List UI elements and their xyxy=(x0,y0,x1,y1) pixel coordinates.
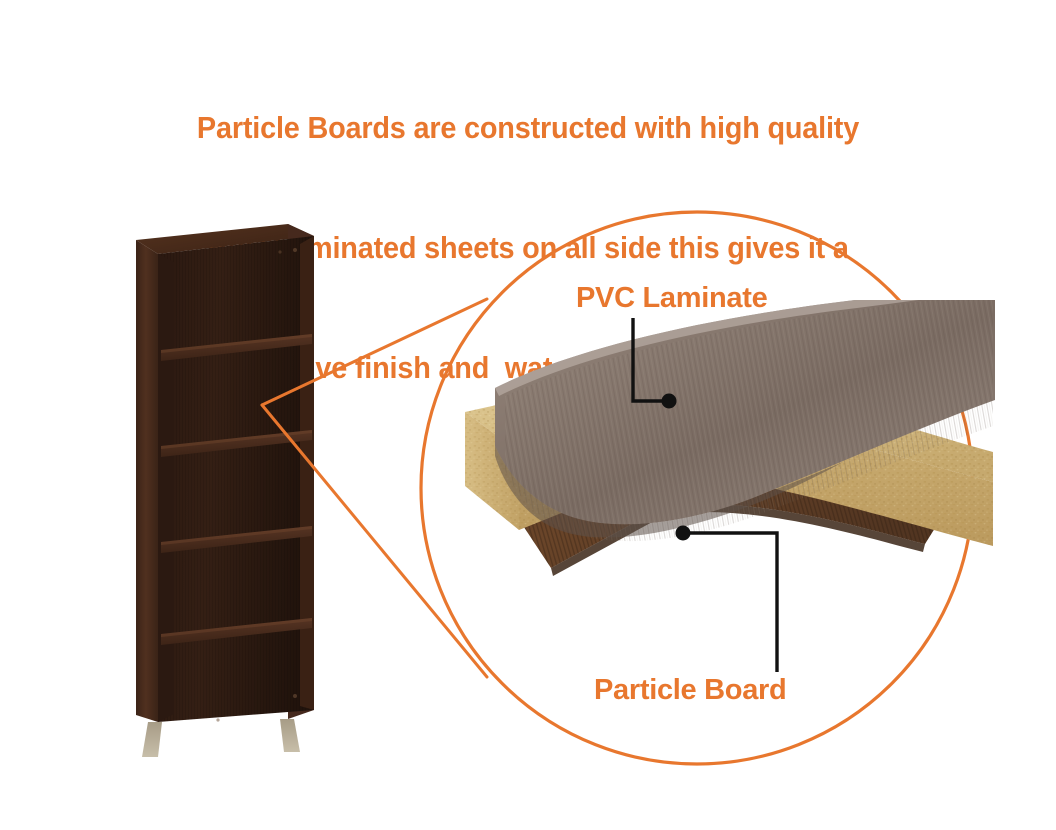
product-bookcase-image xyxy=(128,222,328,767)
label-pvc-laminate: PVC Laminate xyxy=(576,281,767,315)
heading-line-1: Particle Boards are constructed with hig… xyxy=(37,108,1019,148)
bookcase-feet xyxy=(142,719,300,757)
exploded-board-illustration xyxy=(455,300,995,660)
board-layer-stack xyxy=(455,300,995,660)
label-particle-board: Particle Board xyxy=(594,673,786,707)
infographic-canvas: Particle Boards are constructed with hig… xyxy=(0,0,1056,830)
bookcase-illustration xyxy=(128,222,328,767)
bookcase-carcass xyxy=(136,224,314,722)
